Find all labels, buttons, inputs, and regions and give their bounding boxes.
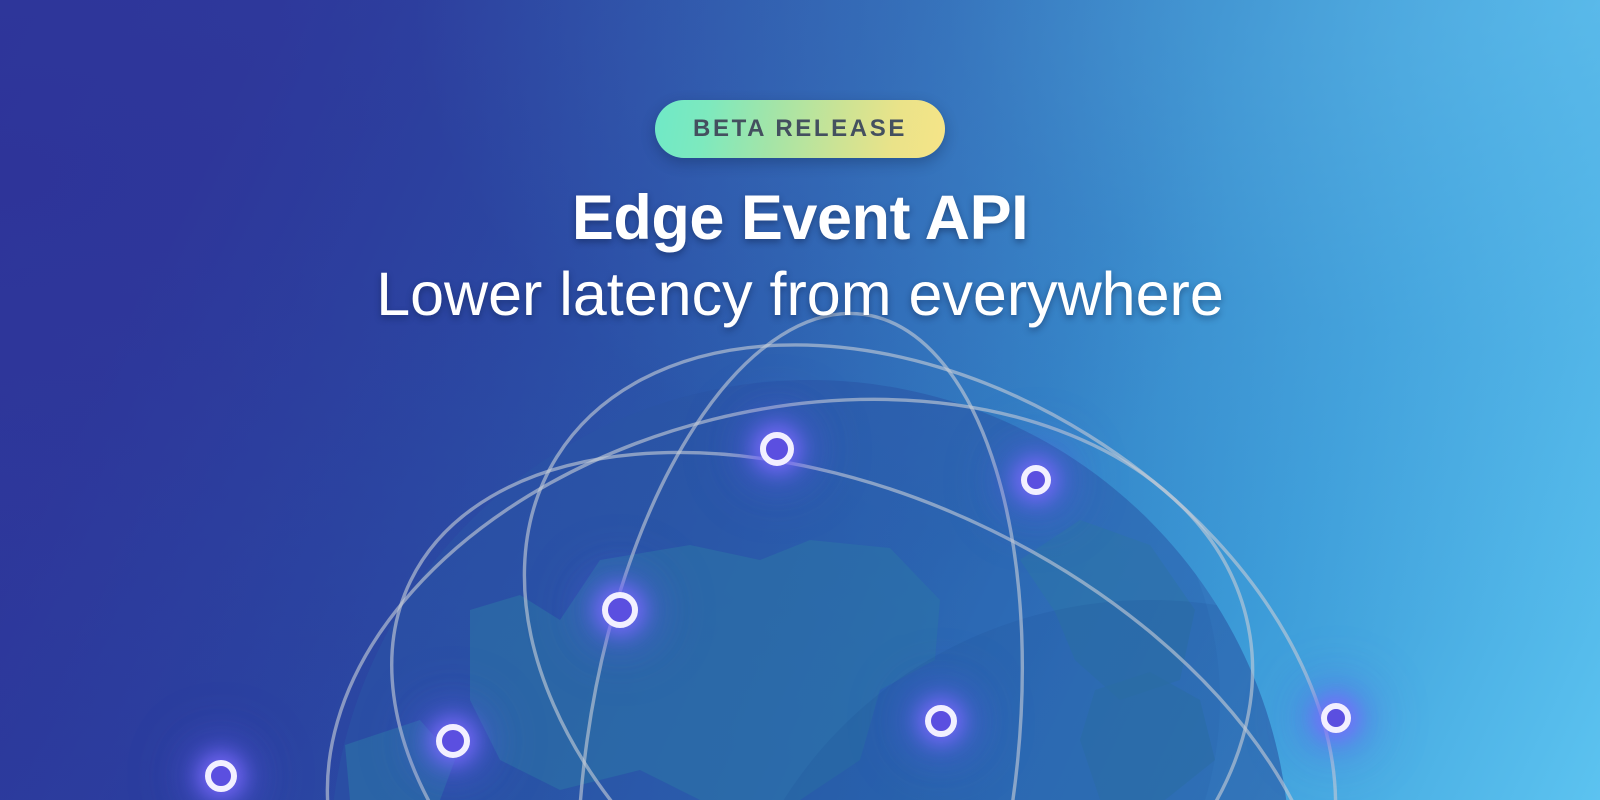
edge-node-6 (1321, 703, 1351, 733)
edge-node-5 (436, 724, 470, 758)
edge-node-1 (760, 432, 794, 466)
page-title: Edge Event API (0, 184, 1600, 252)
edge-node-2 (1021, 465, 1051, 495)
hero-content: BETA RELEASE Edge Event API Lower latenc… (0, 0, 1600, 328)
edge-node-7 (205, 760, 237, 792)
hero-banner: BETA RELEASE Edge Event API Lower latenc… (0, 0, 1600, 800)
edge-node-3 (602, 592, 638, 628)
status-badge: BETA RELEASE (655, 100, 945, 158)
edge-node-4 (925, 705, 957, 737)
page-subtitle: Lower latency from everywhere (0, 260, 1600, 328)
